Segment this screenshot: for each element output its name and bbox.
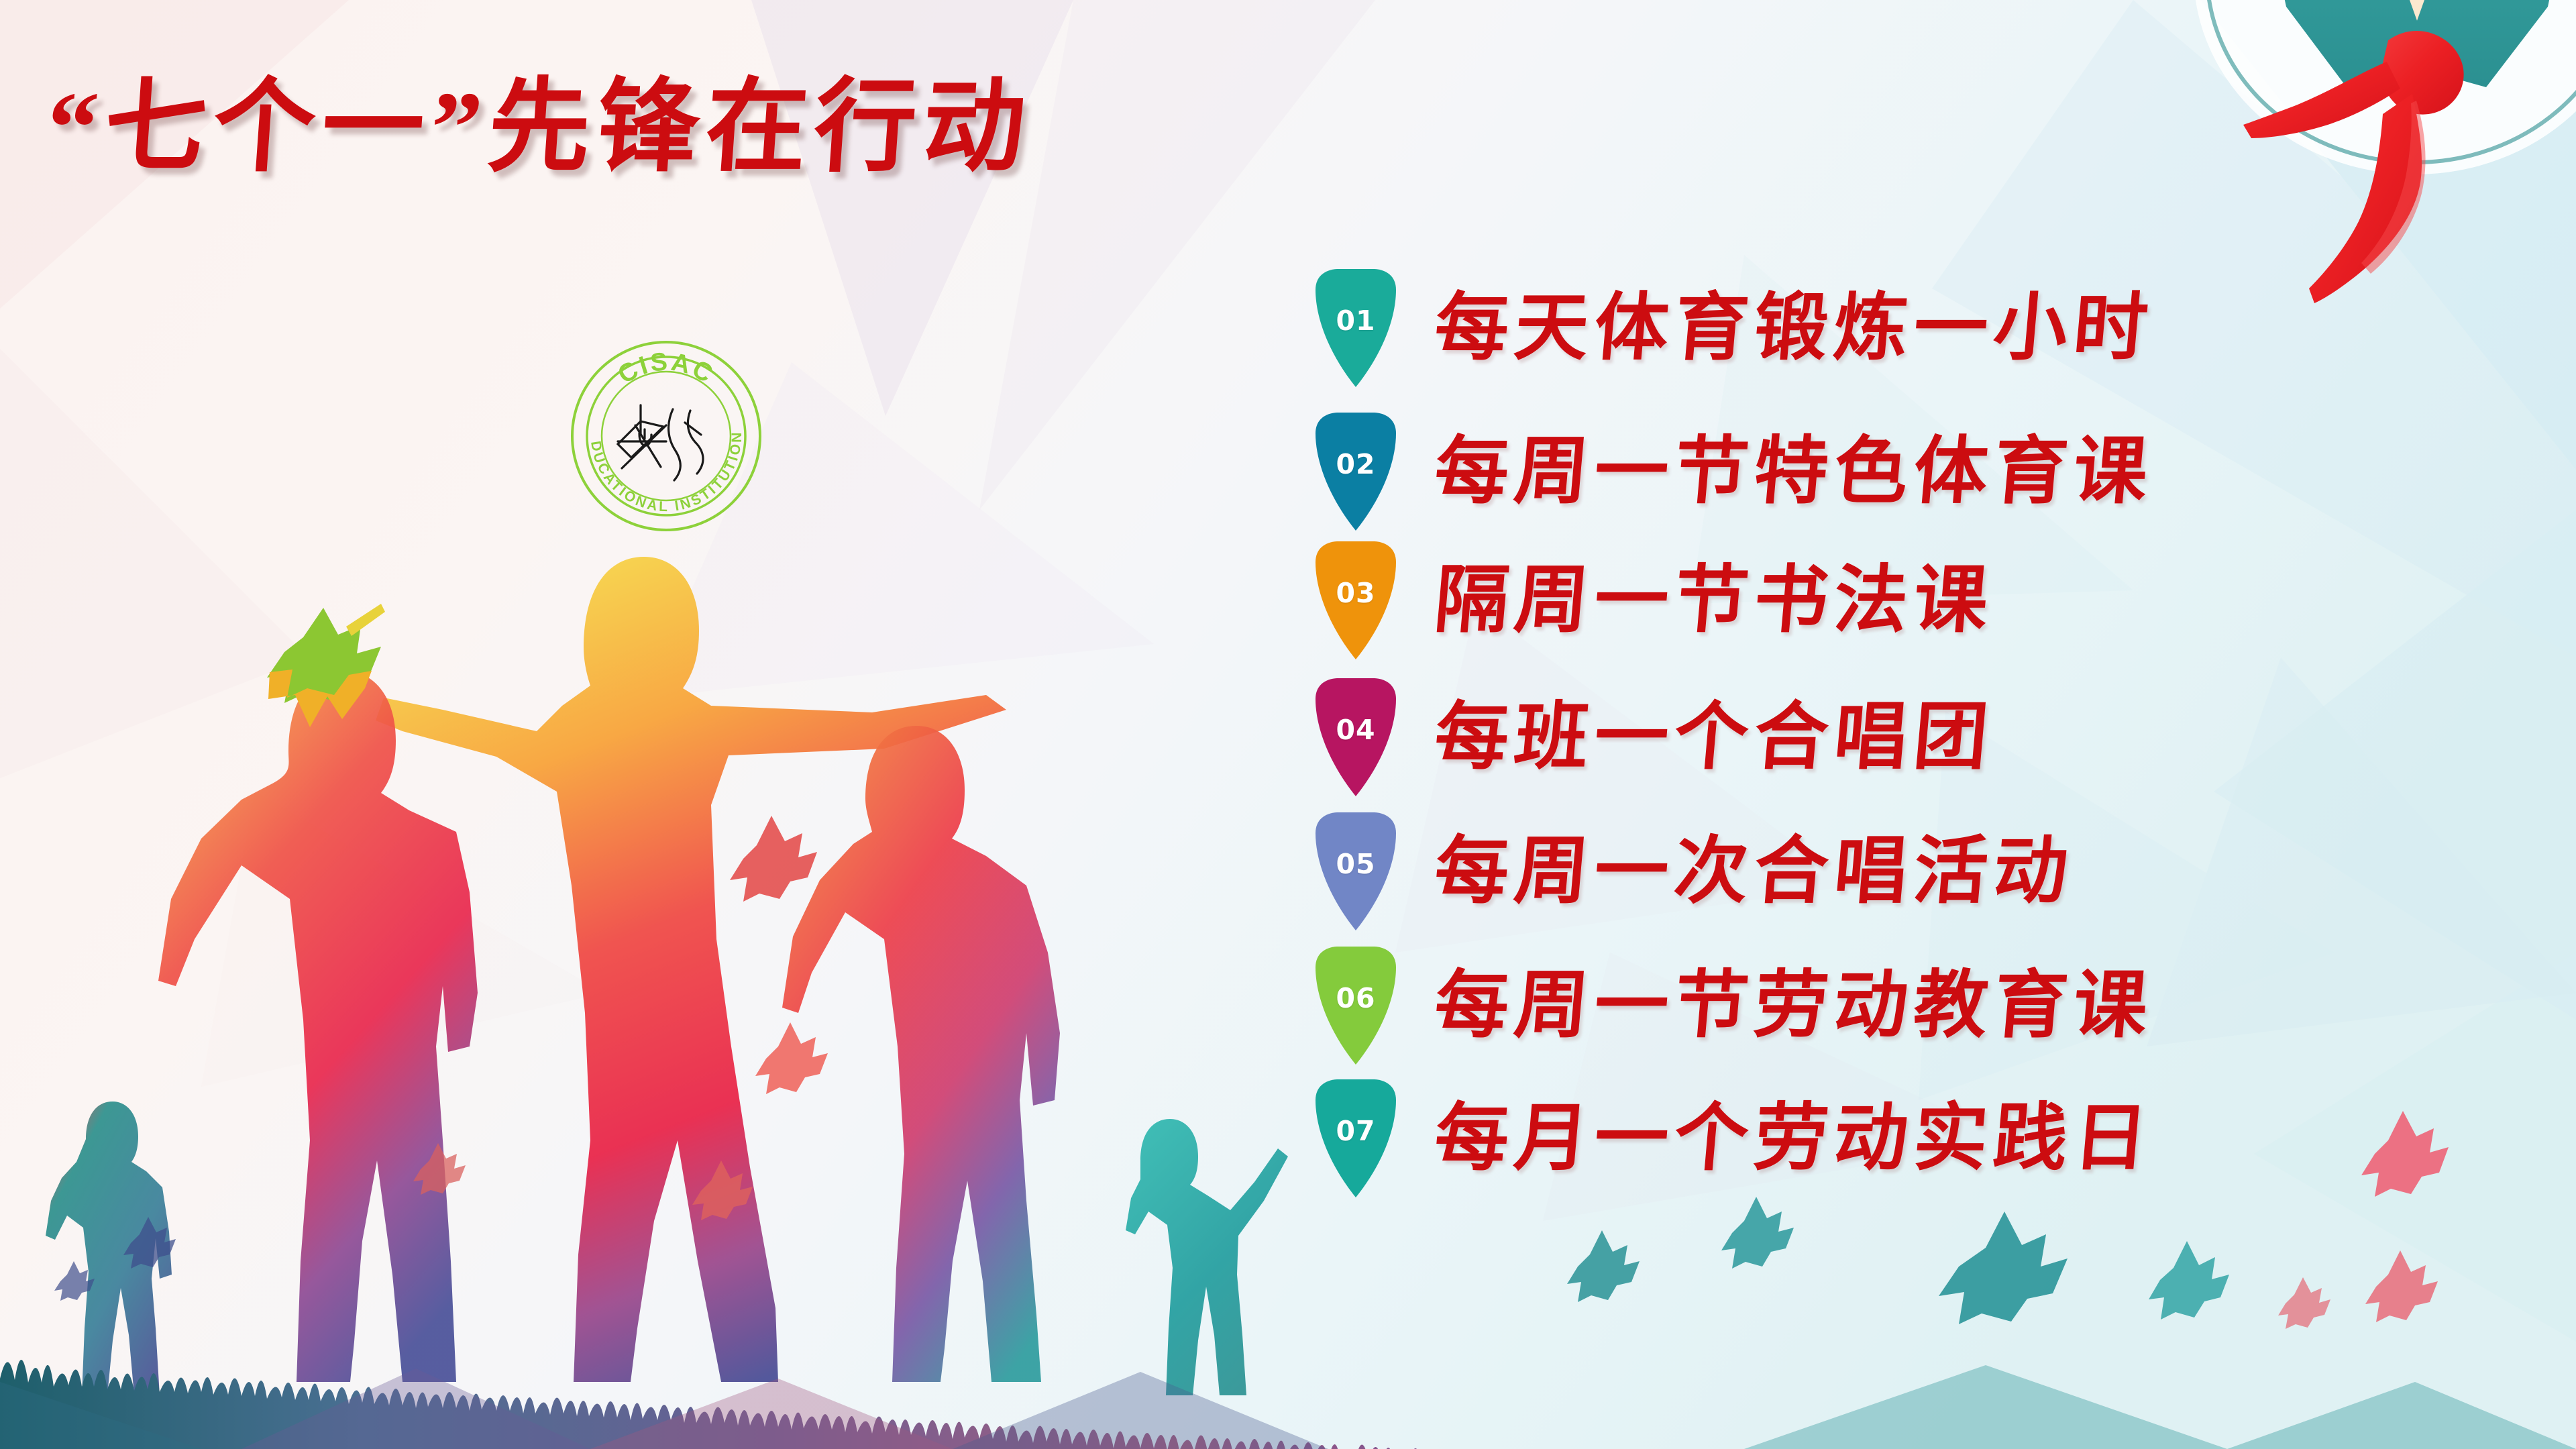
seven-ones-list: 01 每天体育锻炼一小时 02 每周一节特色体育课 03 隔周一节书法课 — [1311, 263, 2358, 1283]
logo-mark — [618, 405, 703, 480]
badge-number: 04 — [1336, 714, 1375, 746]
badge-number: 01 — [1336, 305, 1375, 337]
list-item-label: 每周一次合唱活动 — [1432, 835, 2077, 908]
list-item[interactable]: 05 每周一次合唱活动 — [1311, 806, 2358, 936]
list-item[interactable]: 02 每周一节特色体育课 — [1311, 407, 2358, 537]
badge-05[interactable]: 05 — [1311, 810, 1400, 932]
list-item[interactable]: 07 每月一个劳动实践日 — [1311, 1073, 2358, 1203]
list-item-label: 每周一节特色体育课 — [1432, 435, 2157, 508]
list-item-label: 每天体育锻炼一小时 — [1432, 291, 2157, 365]
list-item[interactable]: 03 隔周一节书法课 — [1311, 535, 2358, 665]
list-item-label: 隔周一节书法课 — [1432, 563, 1997, 637]
list-item[interactable]: 06 每周一节劳动教育课 — [1311, 941, 2358, 1071]
list-item-label: 每周一节劳动教育课 — [1432, 969, 2157, 1042]
badge-number: 03 — [1336, 577, 1375, 609]
logo-top-text: CISAC — [613, 347, 719, 389]
poster-title: “七个一”先锋在行动 — [47, 64, 1241, 191]
badge-07[interactable]: 07 — [1311, 1077, 1400, 1199]
cisac-logo: CISAC EDUCATIONAL INSTITUTION — [566, 335, 767, 537]
badge-02[interactable]: 02 — [1311, 411, 1400, 533]
badge-number: 06 — [1336, 982, 1375, 1014]
badge-number: 05 — [1336, 848, 1375, 880]
badge-number: 07 — [1336, 1115, 1375, 1147]
badge-01[interactable]: 01 — [1311, 267, 1400, 389]
badge-06[interactable]: 06 — [1311, 945, 1400, 1067]
badge-04[interactable]: 04 — [1311, 676, 1400, 798]
badge-03[interactable]: 03 — [1311, 539, 1400, 661]
badge-number: 02 — [1336, 448, 1375, 480]
list-item[interactable]: 04 每班一个合唱团 — [1311, 672, 2358, 802]
list-item[interactable]: 01 每天体育锻炼一小时 — [1311, 263, 2358, 393]
list-item-label: 每班一个合唱团 — [1432, 700, 1997, 774]
poster-canvas: “七个一”先锋在行动 CISAC EDUCATIONAL INSTITUTION — [0, 0, 2576, 1449]
list-item-label: 每月一个劳动实践日 — [1432, 1102, 2157, 1175]
poster-title-text: “七个一”先锋在行动 — [44, 76, 1036, 178]
